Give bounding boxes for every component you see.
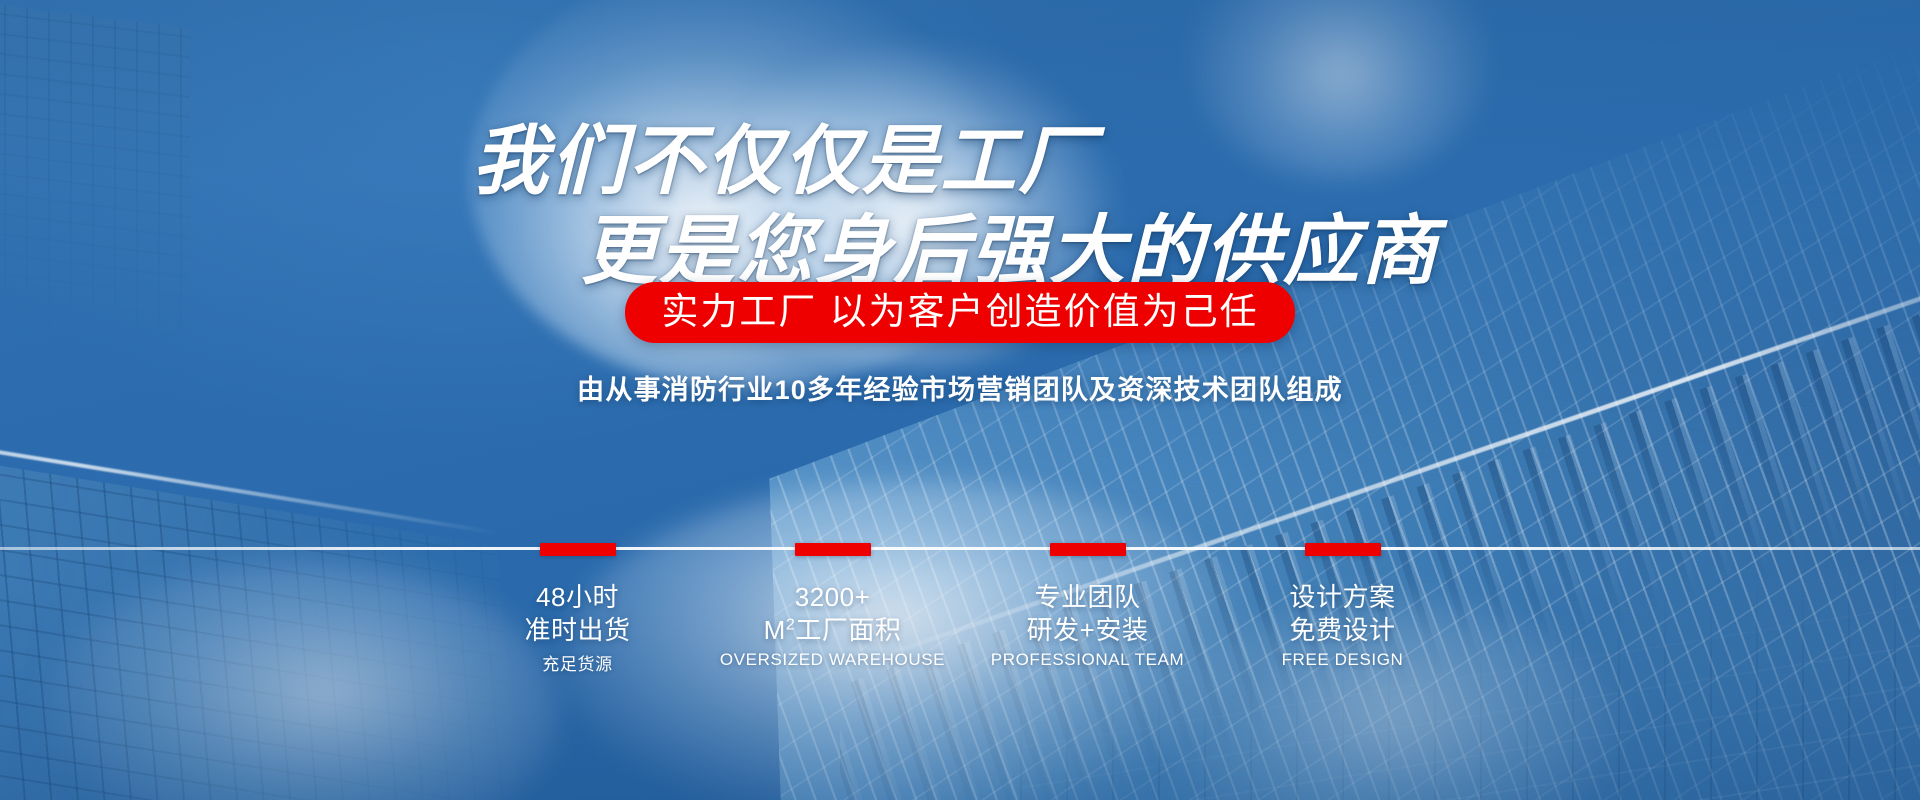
headline-line-1: 我们不仅仅是工厂 [0,118,1744,206]
feature-title: 专业团队 [960,582,1215,614]
feature-marker-icon [1050,543,1126,556]
feature-title: 48小时 [450,582,705,614]
feature-title: 3200+ [705,582,960,614]
feature-marker-icon [1305,543,1381,556]
headline-block: 我们不仅仅是工厂 更是您身后强大的供应商 [0,118,1920,296]
feature-caption: FREE DESIGN [1215,650,1470,670]
feature-item-design: 设计方案 免费设计 FREE DESIGN [1215,543,1470,670]
feature-item-warehouse: 3200+ M2工厂面积 OVERSIZED WAREHOUSE [705,543,960,670]
slogan-badge-container: 实力工厂 以为客户创造价值为己任 [0,282,1920,343]
subtitle-text: 由从事消防行业10多年经验市场营销团队及资深技术团队组成 [0,368,1920,407]
feature-caption: PROFESSIONAL TEAM [960,650,1215,670]
feature-marker-icon [540,543,616,556]
feature-subtitle: 研发+安装 [960,615,1215,647]
feature-subtitle-rest: 工厂面积 [795,615,901,645]
feature-subtitle: 准时出货 [450,615,705,647]
feature-subtitle-unit: M [764,615,786,645]
feature-caption: 充足货源 [450,650,705,675]
banner-content: 我们不仅仅是工厂 更是您身后强大的供应商 实力工厂 以为客户创造价值为己任 由从… [0,0,1920,800]
promo-banner: 我们不仅仅是工厂 更是您身后强大的供应商 实力工厂 以为客户创造价值为己任 由从… [0,0,1920,800]
feature-subtitle-superscript: 2 [786,615,795,633]
feature-marker-icon [795,543,871,556]
feature-caption: OVERSIZED WAREHOUSE [705,650,960,670]
feature-title: 设计方案 [1215,582,1470,614]
feature-subtitle: M2工厂面积 [705,615,960,647]
feature-list: 48小时 准时出货 充足货源 3200+ M2工厂面积 OVERSIZED WA… [0,543,1920,675]
feature-item-team: 专业团队 研发+安装 PROFESSIONAL TEAM [960,543,1215,670]
feature-subtitle: 免费设计 [1215,615,1470,647]
slogan-badge: 实力工厂 以为客户创造价值为己任 [625,282,1294,343]
feature-item-delivery: 48小时 准时出货 充足货源 [450,543,705,675]
